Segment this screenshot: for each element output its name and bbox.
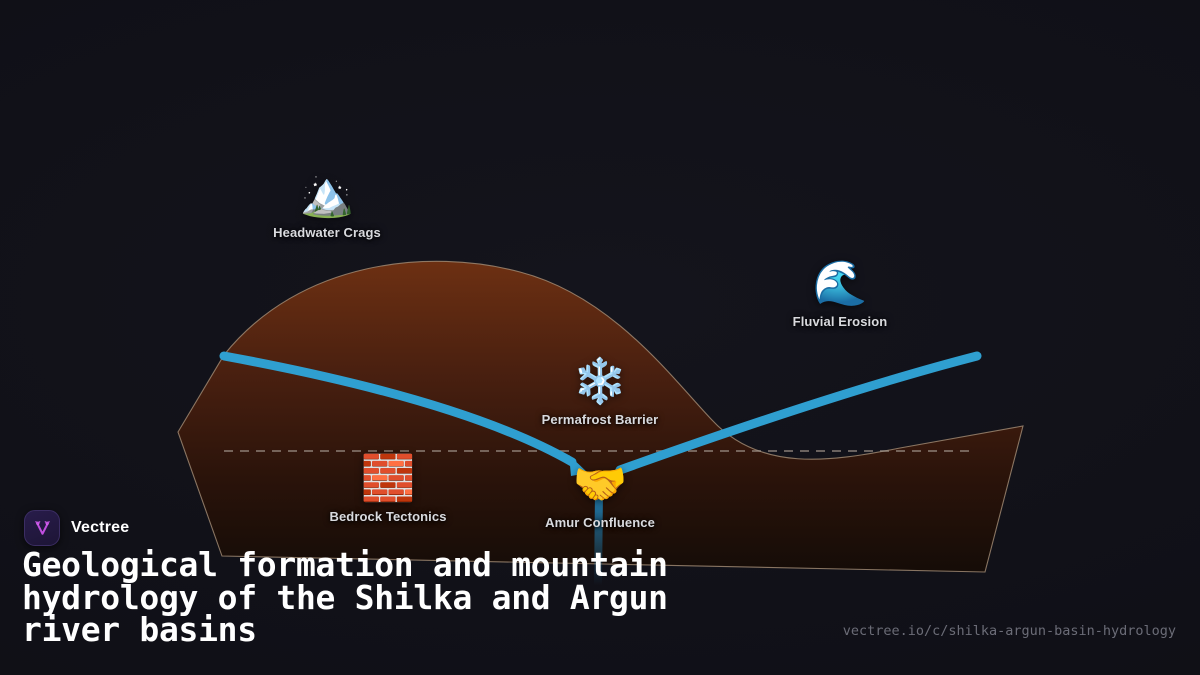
node-label-permafrost-barrier: Permafrost Barrier [505, 412, 695, 427]
handshake-icon: 🤝 [505, 460, 695, 510]
node-permafrost-barrier[interactable]: ❄️ Permafrost Barrier [505, 357, 695, 427]
page-title: Geological formation and mountain hydrol… [22, 549, 762, 647]
water-wave-icon: 🌊 [745, 259, 935, 309]
brick-wall-icon: 🧱 [293, 454, 483, 504]
node-label-bedrock-tectonics: Bedrock Tectonics [293, 509, 483, 524]
node-label-fluvial-erosion: Fluvial Erosion [745, 314, 935, 329]
node-headwater-crags[interactable]: 🏔️ Headwater Crags [232, 170, 422, 240]
brand-block[interactable]: Vectree [24, 510, 129, 546]
snow-capped-mountain-icon: 🏔️ [232, 170, 422, 220]
node-label-headwater-crags: Headwater Crags [232, 225, 422, 240]
snowflake-icon: ❄️ [505, 357, 695, 407]
poster-canvas: 🏔️ Headwater Crags 🌊 Fluvial Erosion ❄️ … [0, 0, 1200, 675]
node-bedrock-tectonics[interactable]: 🧱 Bedrock Tectonics [293, 454, 483, 524]
vectree-tree-mark-svg [32, 518, 53, 539]
footer-url[interactable]: vectree.io/c/shilka-argun-basin-hydrolog… [843, 623, 1176, 639]
node-fluvial-erosion[interactable]: 🌊 Fluvial Erosion [745, 259, 935, 329]
vectree-logo-icon [24, 510, 60, 546]
node-amur-confluence[interactable]: 🤝 Amur Confluence [505, 460, 695, 530]
node-label-amur-confluence: Amur Confluence [505, 515, 695, 530]
brand-name: Vectree [71, 519, 129, 537]
